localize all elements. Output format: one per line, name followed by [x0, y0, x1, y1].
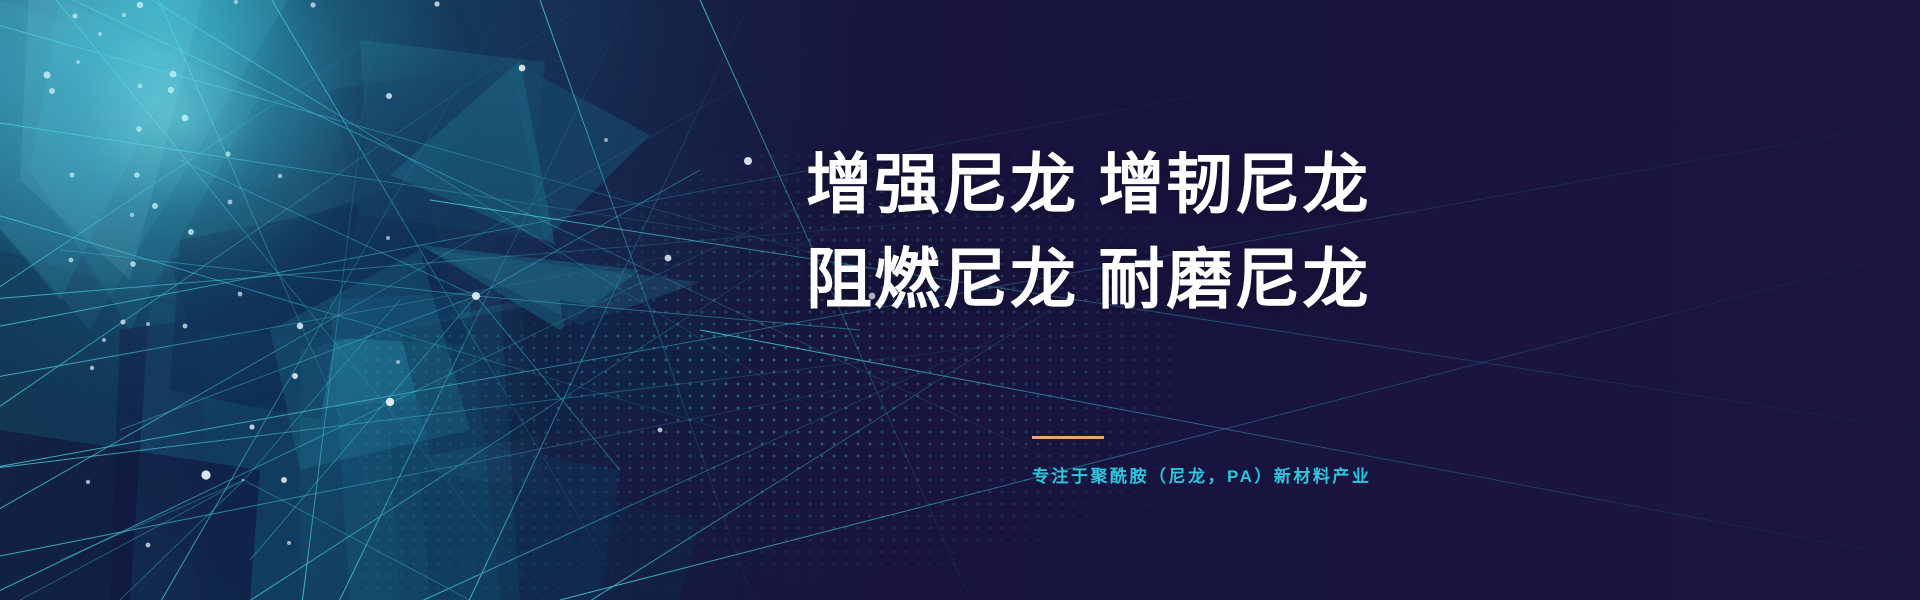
subtitle: 专注于聚酰胺（尼龙，PA）新材料产业: [1032, 462, 1371, 487]
banner-content: 增强尼龙 增韧尼龙 阻燃尼龙 耐磨尼龙 专注于聚酰胺（尼龙，PA）新材料产业: [806, 0, 1906, 600]
hero-banner: 增强尼龙 增韧尼龙 阻燃尼龙 耐磨尼龙 专注于聚酰胺（尼龙，PA）新材料产业: [0, 0, 1920, 600]
accent-divider: [1032, 436, 1104, 439]
headline-line-2: 阻燃尼龙 耐磨尼龙: [806, 232, 1370, 327]
halftone-dot-pattern-secondary: [360, 330, 880, 600]
headline: 增强尼龙 增韧尼龙 阻燃尼龙 耐磨尼龙: [806, 137, 1370, 327]
headline-line-1: 增强尼龙 增韧尼龙: [806, 137, 1370, 232]
